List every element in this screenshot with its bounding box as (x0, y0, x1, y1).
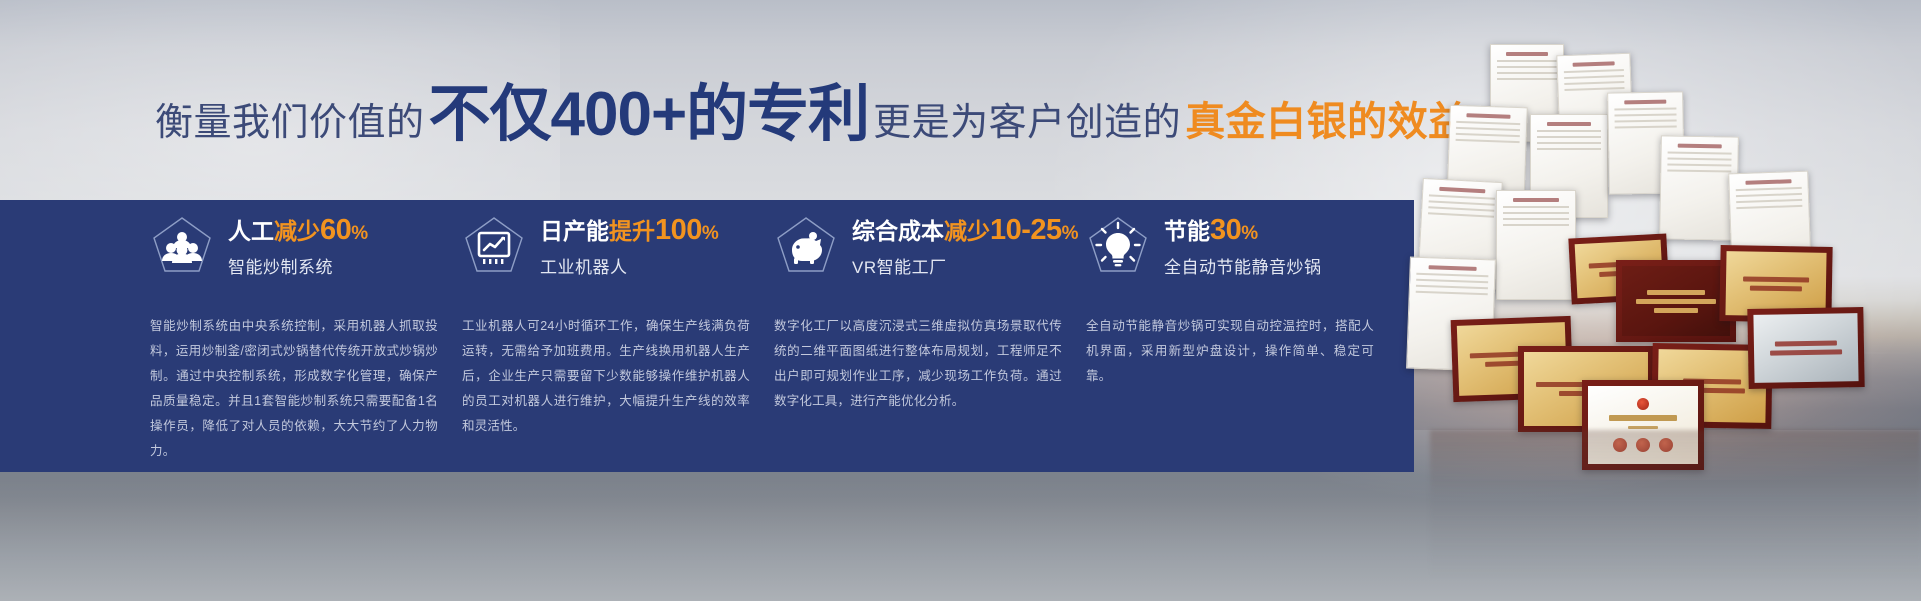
certificate-featured-highnew-tech (1582, 380, 1704, 470)
headline-highlight: 真金白银的效益 (1185, 89, 1469, 147)
feature-title-prefix: 人工 (228, 218, 274, 244)
feature-title-keyword: 减少 (274, 218, 320, 244)
feature-title-percent: % (1062, 223, 1079, 244)
certificate-plaque-dark (1616, 260, 1736, 342)
headline-mid: 更是为客户创造的 (873, 91, 1181, 146)
seal-icon (1613, 438, 1627, 452)
banner-stage: 衡量我们价值的 不仅400+的专利 更是为客户创造的 真金白银的效益 (0, 0, 1921, 601)
certificate-paper (1659, 135, 1739, 240)
feature-panel: 人工减少60% 智能炒制系统 智能炒制系统由中央系统控制，采用机器人抓取投料，运… (0, 200, 1414, 472)
feature-list: 人工减少60% 智能炒制系统 智能炒制系统由中央系统控制，采用机器人抓取投料，运… (150, 200, 1400, 472)
feature-subtitle: VR智能工厂 (852, 253, 1079, 278)
feature-title-prefix: 日产能 (540, 218, 609, 244)
feature-title-number: 10-25 (990, 214, 1062, 246)
feature-title: 人工减少60% (228, 214, 368, 247)
feature-title-percent: % (1241, 223, 1258, 244)
feature-item-energy: 节能30% 全自动节能静音炒锅 全自动节能静音炒锅可实现自动控温控时，搭配人机界… (1086, 200, 1398, 472)
feature-titles: 日产能提升100% 工业机器人 (540, 214, 719, 278)
feature-title-number: 30 (1210, 214, 1241, 246)
feature-title-number: 60 (320, 214, 351, 246)
seal-icon (1636, 438, 1650, 452)
headline-lead: 衡量我们价值的 (155, 91, 425, 146)
feature-title-keyword: 减少 (944, 218, 990, 244)
feature-titles: 人工减少60% 智能炒制系统 (228, 214, 368, 278)
feature-title-percent: % (702, 223, 719, 244)
headline-emphasis: 不仅400+的专利 (429, 84, 870, 146)
feature-item-capacity: 日产能提升100% 工业机器人 工业机器人可24小时循环工作，确保生产线满负荷运… (462, 200, 774, 472)
feature-body: 数字化工厂以高度沉浸式三维虚拟仿真场景取代传统的二维平面图纸进行整体布局规划，工… (774, 314, 1062, 414)
feature-header: 综合成本减少10-25% VR智能工厂 (774, 200, 1062, 292)
feature-title-prefix: 节能 (1164, 218, 1210, 244)
feature-title-prefix: 综合成本 (852, 218, 944, 244)
feature-titles: 节能30% 全自动节能静音炒锅 (1164, 214, 1322, 278)
feature-title: 节能30% (1164, 214, 1322, 247)
award-certificate-wall (1430, 40, 1921, 580)
feature-title-percent: % (351, 223, 368, 244)
feature-title: 综合成本减少10-25% (852, 214, 1079, 247)
feature-item-cost: 综合成本减少10-25% VR智能工厂 数字化工厂以高度沉浸式三维虚拟仿真场景取… (774, 200, 1086, 472)
feature-title-number: 100 (655, 214, 702, 246)
feature-subtitle: 智能炒制系统 (228, 253, 368, 278)
feature-titles: 综合成本减少10-25% VR智能工厂 (852, 214, 1079, 278)
people-group-icon (150, 214, 214, 278)
feature-body: 工业机器人可24小时循环工作，确保生产线满负荷运转，无需给予加班费用。生产线换用… (462, 314, 750, 439)
feature-subtitle: 全自动节能静音炒锅 (1164, 253, 1322, 278)
feature-header: 节能30% 全自动节能静音炒锅 (1086, 200, 1374, 292)
certificate-plaque-silver (1747, 307, 1864, 389)
seal-icon (1659, 438, 1673, 452)
feature-header: 人工减少60% 智能炒制系统 (150, 200, 438, 292)
feature-item-labor: 人工减少60% 智能炒制系统 智能炒制系统由中央系统控制，采用机器人抓取投料，运… (150, 200, 462, 472)
feature-header: 日产能提升100% 工业机器人 (462, 200, 750, 292)
feature-title-keyword: 提升 (609, 218, 655, 244)
feature-body: 智能炒制系统由中央系统控制，采用机器人抓取投料，运用炒制釜/密闭式炒锅替代传统开… (150, 314, 438, 464)
certificate-paper (1496, 190, 1576, 300)
piggy-bank-icon (774, 214, 838, 278)
feature-title: 日产能提升100% (540, 214, 719, 247)
feature-body: 全自动节能静音炒锅可实现自动控温控时，搭配人机界面，采用新型炉盘设计，操作简单、… (1086, 314, 1374, 389)
chart-monitor-icon (462, 214, 526, 278)
feature-subtitle: 工业机器人 (540, 253, 719, 278)
headline: 衡量我们价值的 不仅400+的专利 更是为客户创造的 真金白银的效益 (155, 84, 1469, 147)
lightbulb-icon (1086, 214, 1150, 278)
